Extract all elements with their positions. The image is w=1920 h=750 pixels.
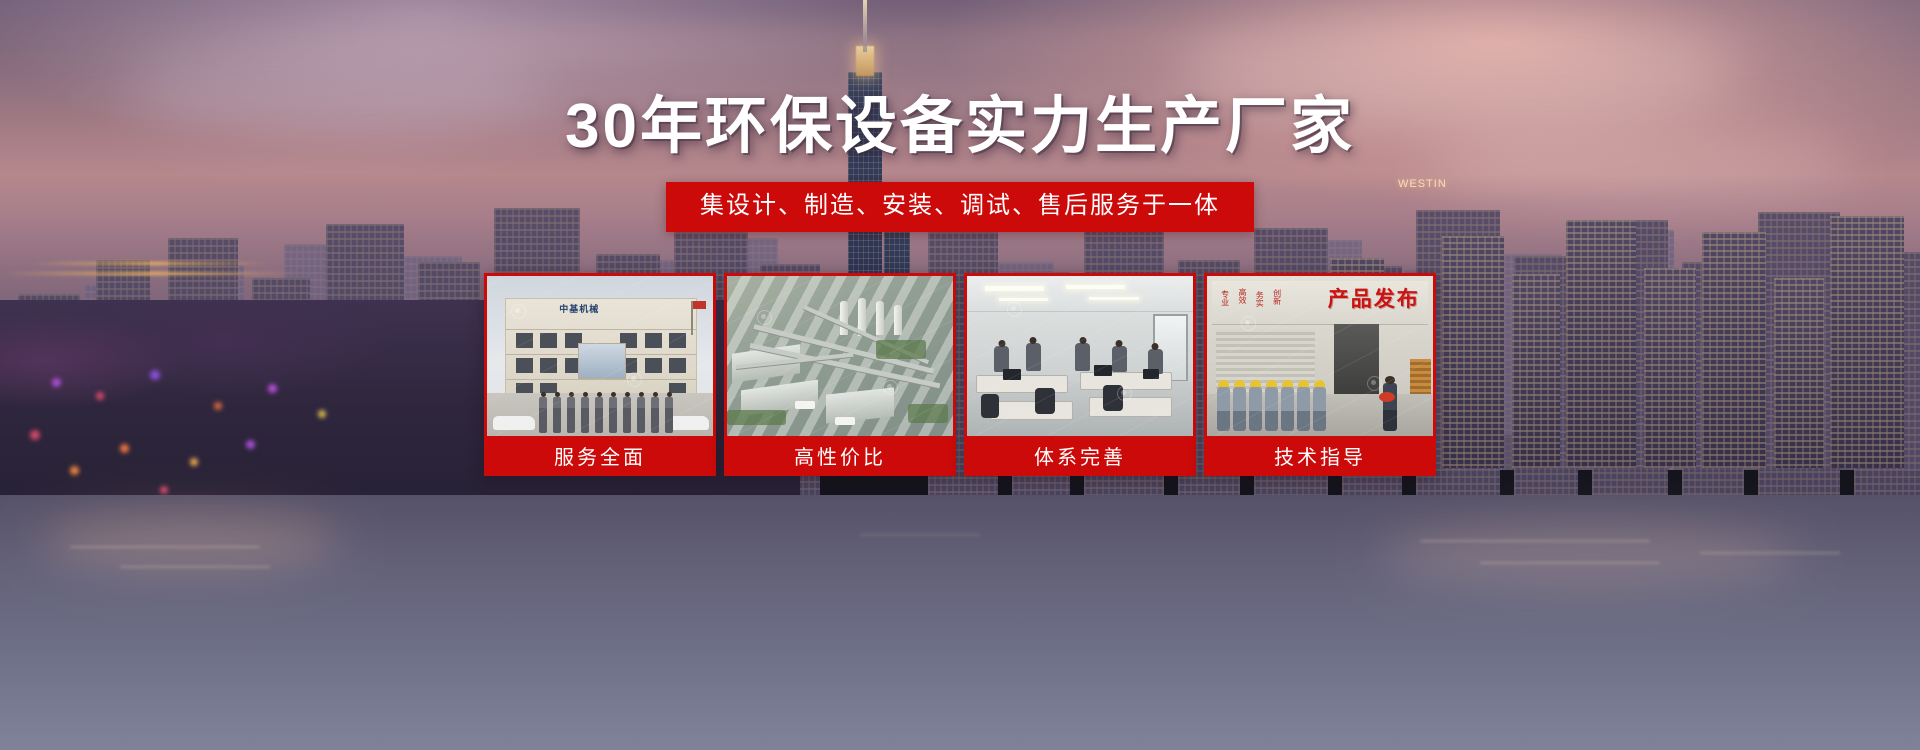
subtitle-banner: 集设计、制造、安装、调试、售后服务于一体 (666, 182, 1254, 232)
aerial-view-of-production-plant-photo (727, 276, 953, 436)
feature-card[interactable]: 高性价比 (724, 273, 956, 476)
feature-card-label: 服务全面 (487, 436, 713, 476)
feature-card-label: 技术指导 (1207, 436, 1433, 476)
feature-card[interactable]: 产品发布 专业 高效 务实 创新 (1204, 273, 1436, 476)
building-sign-text: 中基机械 (559, 302, 599, 315)
feature-card[interactable]: 体系完善 (964, 273, 1196, 476)
feature-card-label: 体系完善 (967, 436, 1193, 476)
workshop-workers-with-helmets-photo: 产品发布 专业 高效 务实 创新 (1207, 276, 1433, 436)
feature-card-list: 中基机械 (484, 273, 1436, 476)
page-title: 30年环保设备实力生产厂家 (565, 96, 1355, 158)
feature-card[interactable]: 中基机械 (484, 273, 716, 476)
hero-banner: WESTIN 30年环保设备实力生产厂家 集设计、制造、安装、调试、售后服务于一… (0, 0, 1920, 750)
workshop-banner-text: 产品发布 (1328, 283, 1420, 313)
feature-card-label: 高性价比 (727, 436, 953, 476)
company-office-building-with-staff-photo: 中基机械 (487, 276, 713, 436)
office-interior-with-employees-photo (967, 276, 1193, 436)
